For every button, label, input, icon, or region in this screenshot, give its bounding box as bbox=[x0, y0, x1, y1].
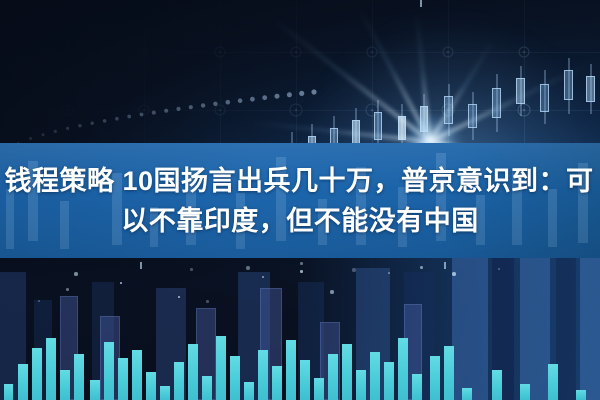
volume-bar bbox=[60, 370, 70, 400]
candle-body bbox=[398, 116, 406, 140]
candle-body bbox=[374, 112, 382, 140]
volume-bar bbox=[462, 388, 472, 400]
candle-body bbox=[492, 88, 501, 118]
headline-line-2: 以不靠印度，但不能没有中国 bbox=[121, 202, 479, 240]
volume-bar bbox=[492, 370, 502, 400]
volume-bar bbox=[258, 350, 268, 400]
light-speck bbox=[452, 272, 456, 276]
volume-bar bbox=[46, 338, 56, 400]
light-speck bbox=[300, 270, 303, 273]
light-speck bbox=[74, 272, 78, 276]
light-speck bbox=[120, 282, 122, 284]
volume-bar bbox=[328, 354, 338, 400]
volume-bar bbox=[314, 378, 324, 400]
volume-bar bbox=[216, 336, 226, 400]
candle-body bbox=[564, 70, 573, 100]
light-speck bbox=[388, 272, 390, 274]
volume-bar bbox=[244, 382, 254, 400]
background-column bbox=[520, 258, 550, 400]
light-speck bbox=[66, 288, 69, 291]
candle-body bbox=[352, 120, 360, 144]
candle-body bbox=[540, 84, 549, 112]
volume-bar bbox=[342, 344, 352, 400]
volume-bar bbox=[286, 340, 296, 400]
volume-bar bbox=[398, 338, 408, 400]
background-column bbox=[556, 258, 576, 400]
light-speck bbox=[190, 268, 193, 271]
volume-bar bbox=[146, 372, 156, 400]
candle-body bbox=[516, 78, 525, 104]
volume-bar bbox=[576, 390, 586, 400]
volume-bar bbox=[160, 386, 170, 400]
volume-bar bbox=[520, 384, 530, 400]
volume-bar bbox=[104, 342, 114, 400]
volume-bar bbox=[188, 344, 198, 400]
volume-bar bbox=[32, 348, 42, 400]
volume-bar bbox=[356, 370, 366, 400]
volume-bar bbox=[18, 364, 28, 400]
headline-line-1: 钱程策略 10国扬言出兵几十万，普京意识到：可 bbox=[4, 162, 595, 200]
volume-bar bbox=[548, 364, 558, 400]
volume-bar bbox=[174, 362, 184, 400]
volume-bar bbox=[202, 376, 212, 400]
volume-bar bbox=[384, 362, 394, 400]
headline: 钱程策略 10国扬言出兵几十万，普京意识到：可 以不靠印度，但不能没有中国 bbox=[0, 143, 600, 258]
candle-body bbox=[468, 104, 477, 128]
light-speck bbox=[246, 266, 250, 270]
volume-bar bbox=[118, 358, 128, 400]
light-speck bbox=[262, 276, 264, 278]
light-speck bbox=[300, 262, 303, 265]
light-speck bbox=[352, 268, 356, 272]
banner-image: 钱程策略 10国扬言出兵几十万，普京意识到：可 以不靠印度，但不能没有中国 bbox=[0, 0, 600, 400]
candle-body bbox=[586, 76, 595, 102]
candle-body bbox=[444, 96, 453, 124]
light-speck bbox=[498, 268, 500, 270]
light-speck bbox=[420, 266, 423, 269]
volume-bar bbox=[90, 380, 100, 400]
volume-bar bbox=[230, 356, 240, 400]
background-column bbox=[452, 258, 488, 400]
volume-bar bbox=[74, 354, 84, 400]
volume-bar bbox=[370, 352, 380, 400]
volume-bar bbox=[272, 366, 282, 400]
volume-bar bbox=[4, 384, 13, 400]
volume-bar bbox=[430, 356, 440, 400]
dashed-scan-line bbox=[444, 262, 446, 400]
light-speck bbox=[206, 300, 209, 303]
light-speck bbox=[178, 296, 180, 298]
background-column bbox=[580, 258, 600, 400]
volume-bar bbox=[412, 374, 422, 400]
volume-bar bbox=[300, 360, 310, 400]
dashed-scan-line bbox=[140, 262, 142, 400]
light-speck bbox=[330, 290, 334, 294]
light-speck bbox=[38, 300, 40, 302]
